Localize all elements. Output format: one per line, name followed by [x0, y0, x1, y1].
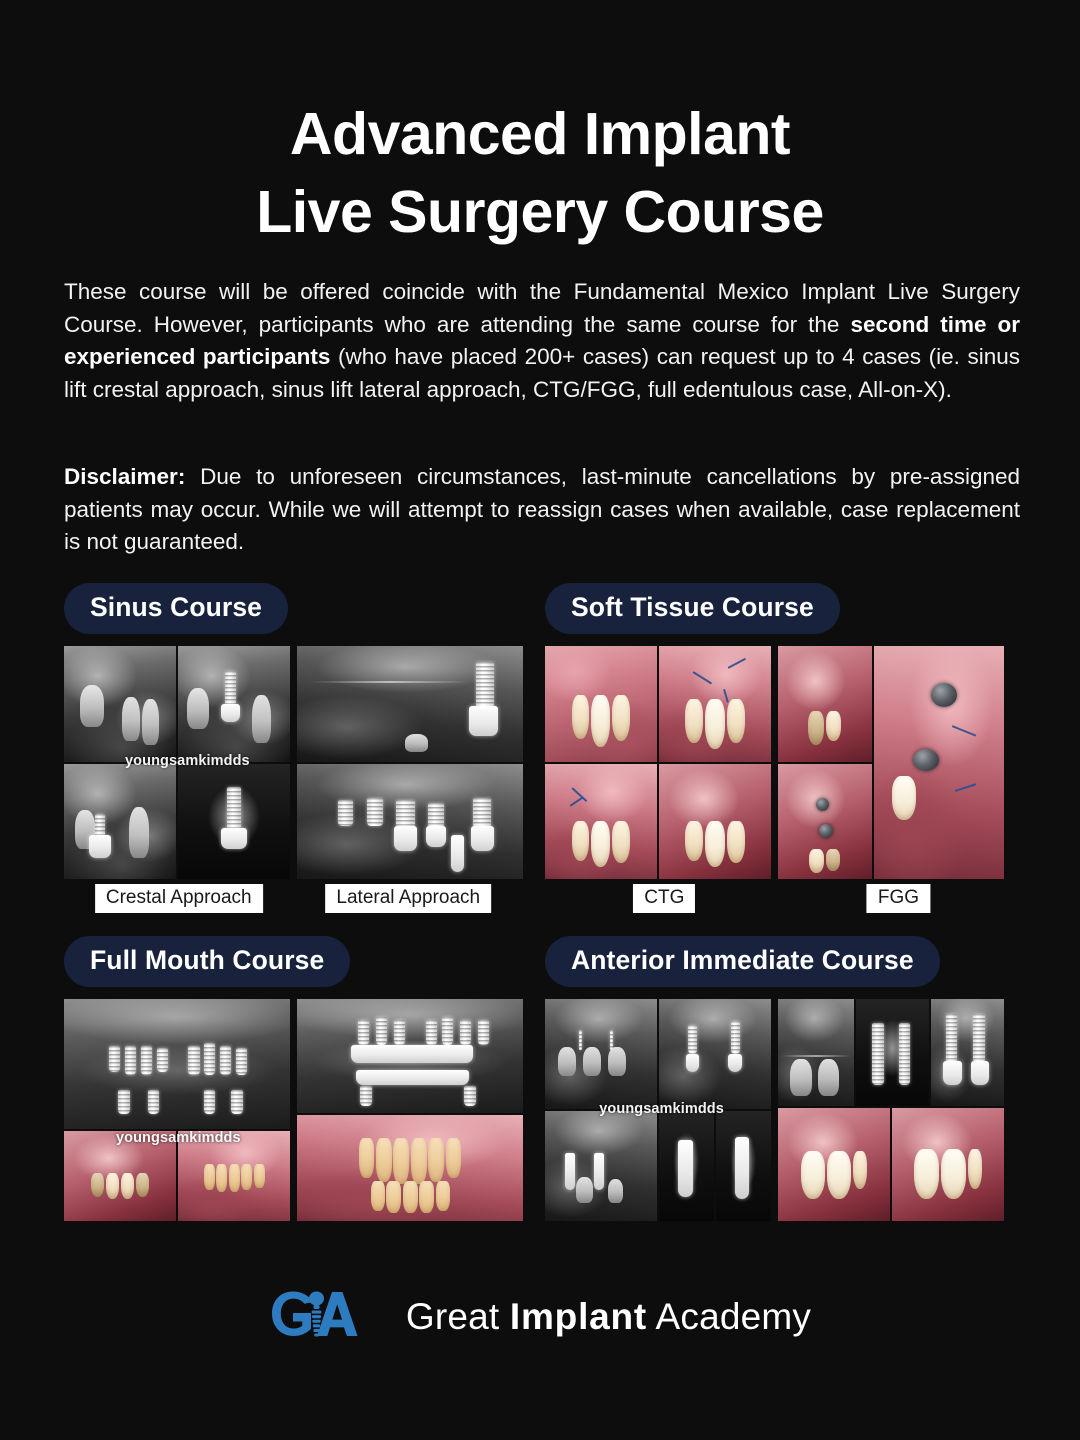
captions-soft-tissue: CTG FGG — [545, 884, 1004, 914]
section-soft-tissue-course: Soft Tissue Course — [545, 583, 1004, 914]
captions-sinus: Crestal Approach Lateral Approach — [64, 884, 523, 914]
radiograph-tile — [659, 999, 771, 1109]
radiograph-tile — [64, 646, 176, 762]
radiograph-tile — [178, 646, 290, 762]
poster-root: Advanced Implant Live Surgery Course The… — [0, 0, 1080, 1440]
intraoral-photo-tile — [892, 1108, 1004, 1221]
gallery-full-mouth-after — [297, 999, 523, 1221]
intraoral-photo-tile — [659, 646, 771, 762]
section-title-full-mouth: Full Mouth Course — [64, 936, 350, 987]
intraoral-photo-tile — [545, 646, 657, 762]
intraoral-photo-tile — [545, 764, 657, 880]
gallery-anterior-radiographs: youngsamkimdds — [545, 999, 771, 1221]
gallery-ctg — [545, 646, 771, 879]
gallery-anterior-result — [778, 999, 1004, 1221]
gallery-full-mouth-before: youngsamkimdds — [64, 999, 290, 1221]
intraoral-photo-tile — [874, 646, 1004, 879]
radiograph-tile — [64, 764, 176, 880]
caption-crestal-approach: Crestal Approach — [95, 884, 263, 913]
title-line-1: Advanced Implant — [0, 96, 1080, 174]
brand-prefix: Great — [406, 1296, 510, 1337]
intraoral-photo-tile — [64, 1131, 176, 1221]
disclaimer-label: Disclaimer: — [64, 464, 185, 489]
captions-full-mouth — [64, 1226, 523, 1256]
caption-lateral-approach: Lateral Approach — [325, 884, 491, 913]
radiograph-tile — [297, 764, 523, 880]
brand-suffix: Academy — [647, 1296, 811, 1337]
gallery-full-mouth: youngsamkimdds — [64, 999, 523, 1221]
gallery-sinus-lateral — [297, 646, 523, 879]
footer-brand: Great Implant Academy — [0, 1286, 1080, 1348]
gia-logo-icon — [269, 1286, 389, 1348]
intraoral-photo-tile — [659, 764, 771, 880]
radiograph-tile — [178, 764, 290, 880]
brand-bold: Implant — [510, 1296, 647, 1337]
intraoral-photo-tile — [178, 1131, 290, 1221]
gallery-soft-tissue — [545, 646, 1004, 879]
brand-wordmark: Great Implant Academy — [406, 1296, 811, 1338]
section-title-sinus: Sinus Course — [64, 583, 288, 634]
section-title-soft-tissue: Soft Tissue Course — [545, 583, 840, 634]
section-full-mouth-course: Full Mouth Course — [64, 936, 523, 1256]
course-sections: Sinus Course — [64, 583, 1016, 1256]
intraoral-photo-tile — [778, 1108, 890, 1221]
radiograph-tile — [297, 646, 523, 762]
radiograph-tile — [545, 1111, 657, 1221]
gallery-sinus-crestal: youngsamkimdds — [64, 646, 290, 879]
radiograph-tile — [856, 999, 929, 1106]
gallery-sinus: youngsamkimdds — [64, 646, 523, 879]
panoramic-radiograph-tile — [297, 999, 523, 1113]
intro-paragraph: These course will be offered coincide wi… — [64, 276, 1020, 406]
section-title-anterior-immediate: Anterior Immediate Course — [545, 936, 940, 987]
radiograph-tile — [778, 999, 854, 1106]
section-row-bottom: Full Mouth Course — [64, 936, 1016, 1256]
gallery-anterior-immediate: youngsamkimdds — [545, 999, 1004, 1221]
radiograph-tile — [716, 1111, 771, 1221]
radiograph-tile — [659, 1111, 714, 1221]
section-anterior-immediate-course: Anterior Immediate Course — [545, 936, 1004, 1256]
intraoral-photo-tile — [778, 764, 872, 880]
section-sinus-course: Sinus Course — [64, 583, 523, 914]
disclaimer-text: Due to unforeseen circumstances, last-mi… — [64, 464, 1020, 554]
section-row-top: Sinus Course — [64, 583, 1016, 914]
radiograph-tile — [931, 999, 1004, 1106]
intraoral-photo-tile — [297, 1115, 523, 1221]
intraoral-photo-tile — [778, 646, 872, 762]
caption-fgg: FGG — [867, 884, 930, 913]
radiograph-tile — [545, 999, 657, 1109]
title-line-2: Live Surgery Course — [0, 174, 1080, 252]
disclaimer-paragraph: Disclaimer: Due to unforeseen circumstan… — [64, 461, 1020, 559]
gallery-fgg — [778, 646, 1004, 879]
caption-ctg: CTG — [633, 884, 695, 913]
page-title: Advanced Implant Live Surgery Course — [0, 96, 1080, 252]
panoramic-radiograph-tile — [64, 999, 290, 1129]
captions-anterior-immediate — [545, 1226, 1004, 1256]
